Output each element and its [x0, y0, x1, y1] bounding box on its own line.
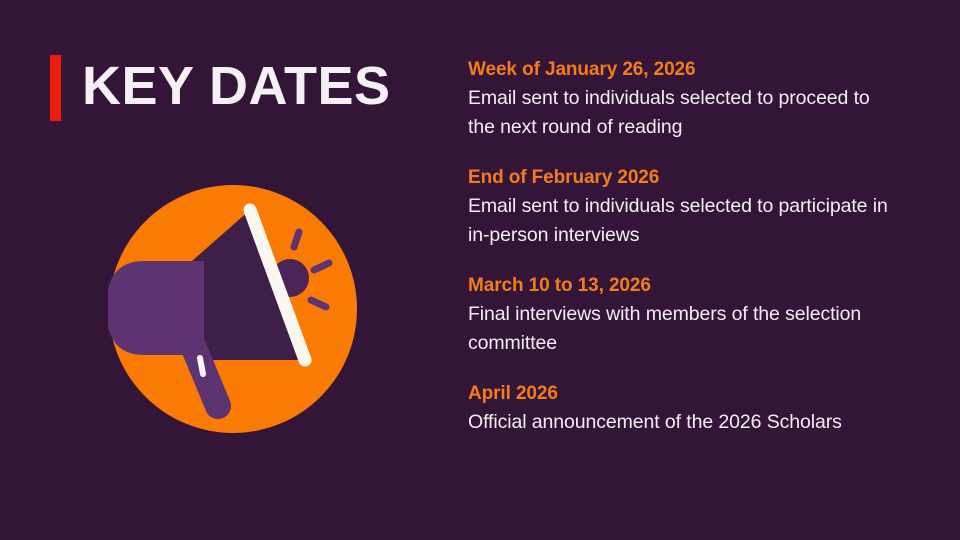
- entry-description: Official announcement of the 2026 Schola…: [468, 408, 888, 437]
- megaphone-wave-dash-top: [294, 232, 299, 247]
- slide-canvas: KEY DATES Week of January 26, 20: [0, 0, 960, 540]
- entry-date: End of February 2026: [468, 164, 888, 192]
- page-title-block: KEY DATES: [50, 55, 391, 121]
- entry-description: Final interviews with members of the sel…: [468, 300, 888, 358]
- megaphone-icon: [108, 184, 360, 436]
- entry-description: Email sent to individuals selected to pa…: [468, 192, 888, 250]
- title-accent-bar: [50, 55, 61, 121]
- list-item: Week of January 26, 2026 Email sent to i…: [468, 56, 888, 142]
- megaphone-handle-highlight: [200, 358, 203, 374]
- page-title: KEY DATES: [61, 55, 391, 121]
- entry-date: Week of January 26, 2026: [468, 56, 888, 84]
- entry-date: April 2026: [468, 380, 888, 408]
- list-item: March 10 to 13, 2026 Final interviews wi…: [468, 272, 888, 358]
- key-dates-list: Week of January 26, 2026 Email sent to i…: [468, 56, 888, 437]
- entry-date: March 10 to 13, 2026: [468, 272, 888, 300]
- list-item: End of February 2026 Email sent to indiv…: [468, 164, 888, 250]
- list-item: April 2026 Official announcement of the …: [468, 380, 888, 437]
- entry-description: Email sent to individuals selected to pr…: [468, 84, 888, 142]
